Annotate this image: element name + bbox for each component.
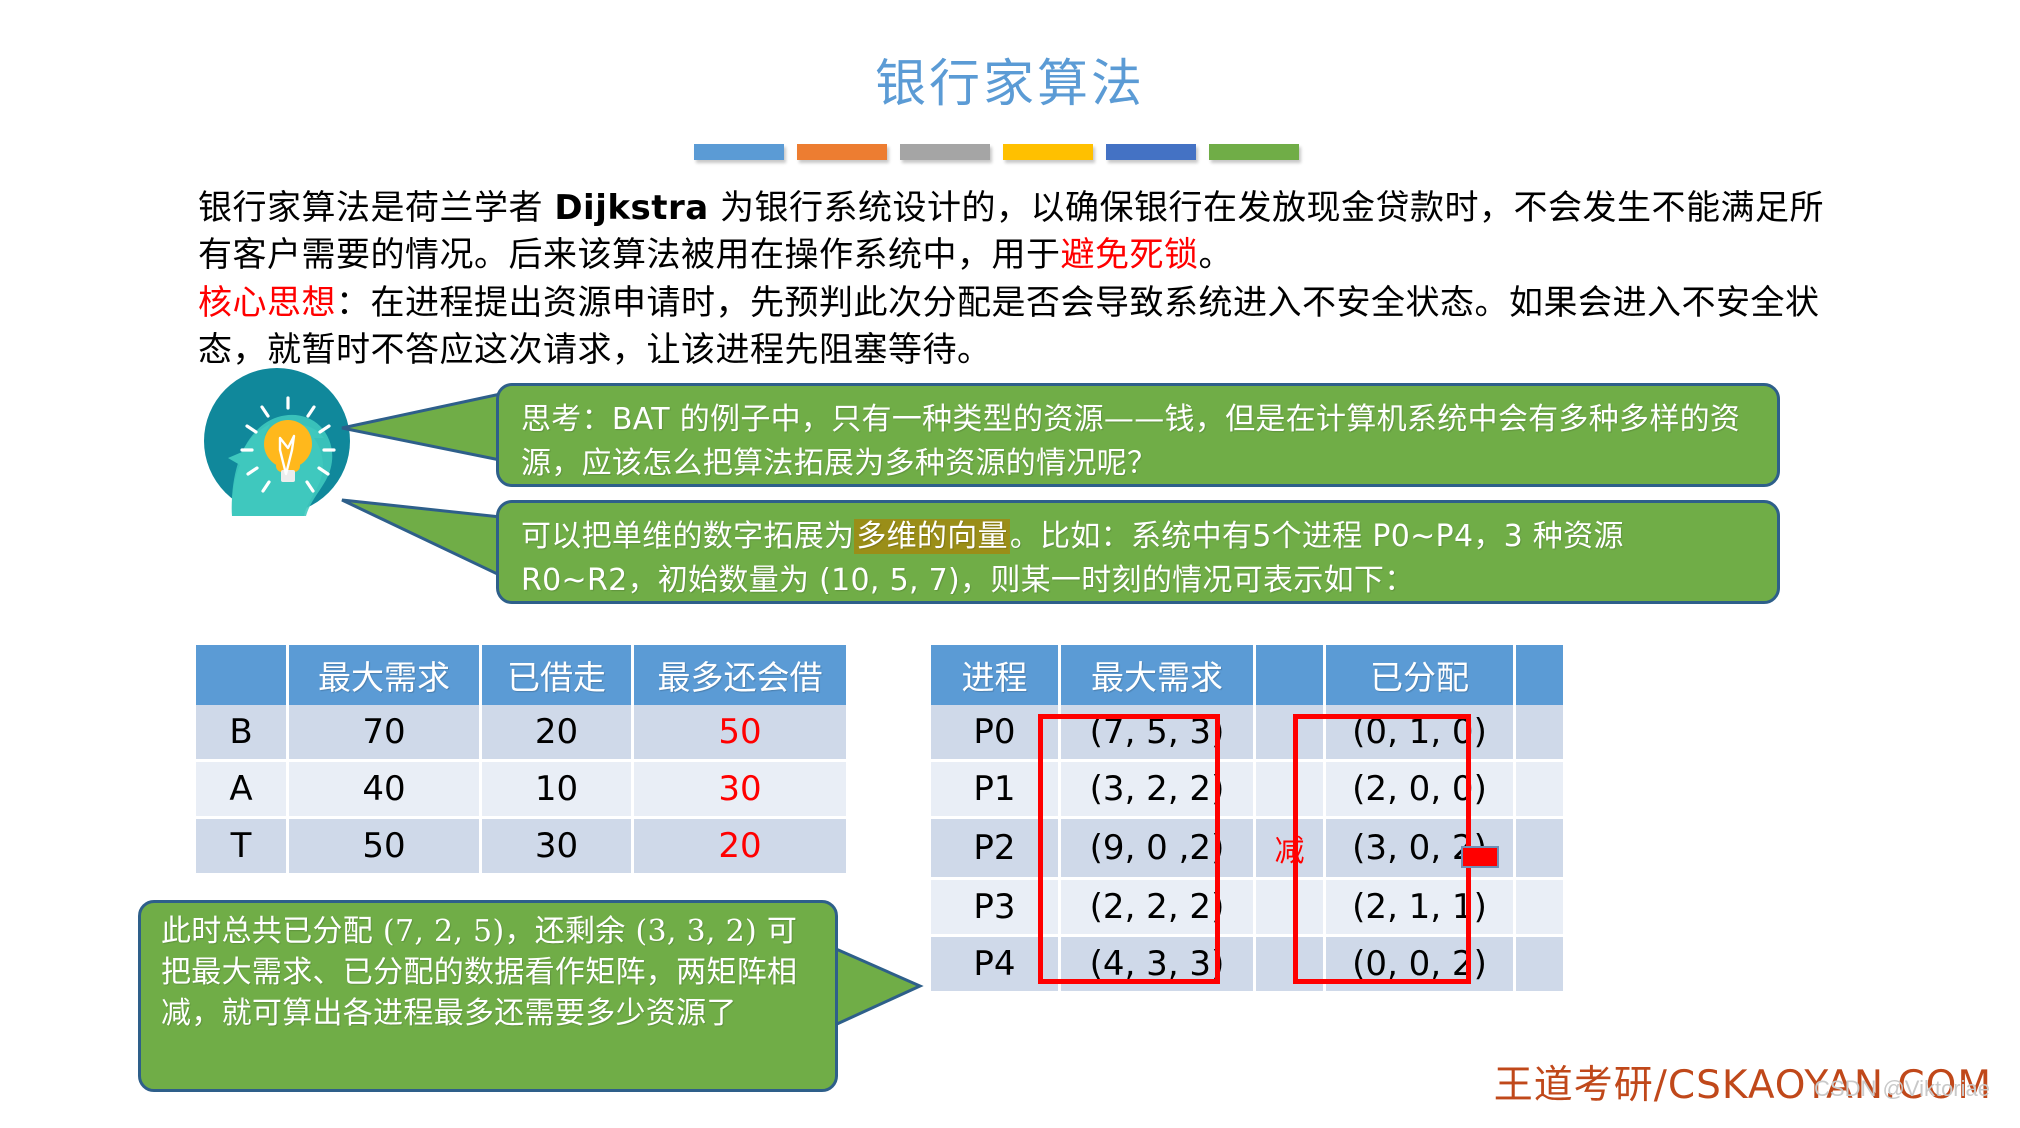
cell-operator	[1255, 761, 1325, 818]
col-header-spacer-1	[1255, 645, 1325, 705]
cell-alloc: (2, 1, 1)	[1325, 879, 1515, 936]
slide-canvas: 银行家算法 银行家算法是荷兰学者 Dijkstra 为银行系统设计的，以确保银行…	[0, 0, 2020, 1128]
callout-two-text-before: 可以把单维的数字拓展为	[521, 519, 854, 554]
cell-max: (7, 5, 3)	[1060, 705, 1255, 761]
callout-two-tail	[340, 470, 520, 620]
process-resource-table: 进程 最大需求 已分配 P0 (7, 5, 3) (0, 1, 0) P1 (3…	[928, 645, 1566, 994]
cell-max: (2, 2, 2)	[1060, 879, 1255, 936]
accent-bar-gray	[900, 144, 990, 160]
intro-text-part3: 。	[1199, 235, 1234, 275]
col-header-max-demand: 最大需求	[1060, 645, 1255, 705]
accent-bar-blue	[694, 144, 784, 160]
lightbulb-head-icon	[202, 366, 352, 516]
table-row: P1 (3, 2, 2) (2, 0, 0)	[930, 761, 1565, 818]
cell-alloc: (0, 1, 0)	[1325, 705, 1515, 761]
intro-paragraph: 银行家算法是荷兰学者 Dijkstra 为银行系统设计的，以确保银行在发放现金贷…	[198, 185, 1858, 279]
cell-max: 70	[288, 705, 481, 761]
dijkstra-name: Dijkstra	[554, 188, 708, 228]
page-title: 银行家算法	[0, 42, 2020, 116]
cell-operator	[1255, 879, 1325, 936]
callout-thinking: 思考：BAT 的例子中，只有一种类型的资源——钱，但是在计算机系统中会有多种多样…	[496, 383, 1780, 487]
cell-borrowed: 10	[481, 761, 633, 818]
cell-borrowed: 20	[481, 705, 633, 761]
table-row: P3 (2, 2, 2) (2, 1, 1)	[930, 879, 1565, 936]
col-header-spacer-2	[1515, 645, 1565, 705]
cell-borrowed: 30	[481, 818, 633, 875]
red-marker-annotation	[1461, 846, 1499, 868]
col-header-max: 最大需求	[288, 645, 481, 705]
table-row: P4 (4, 3, 3) (0, 0, 2)	[930, 936, 1565, 993]
col-header-remaining: 最多还会借	[633, 645, 848, 705]
cell-name: T	[195, 818, 288, 875]
cell-spacer	[1515, 705, 1565, 761]
table-header-row: 进程 最大需求 已分配	[930, 645, 1565, 705]
cell-operator	[1255, 936, 1325, 993]
cell-alloc: (2, 0, 0)	[1325, 761, 1515, 818]
table-row: T 50 30 20	[195, 818, 848, 875]
avoid-deadlock-emphasis: 避免死锁	[1061, 235, 1199, 275]
col-header-allocated: 已分配	[1325, 645, 1515, 705]
cell-alloc: (0, 0, 2)	[1325, 936, 1515, 993]
col-header-borrowed: 已借走	[481, 645, 633, 705]
cell-name: B	[195, 705, 288, 761]
cell-max: (9, 0 ,2)	[1060, 818, 1255, 879]
cell-remaining: 50	[633, 705, 848, 761]
cell-process: P1	[930, 761, 1060, 818]
cell-name: A	[195, 761, 288, 818]
accent-bar-green	[1209, 144, 1299, 160]
cell-spacer	[1515, 936, 1565, 993]
core-idea-paragraph: 核心思想：在进程提出资源申请时，先预判此次分配是否会导致系统进入不安全状态。如果…	[198, 280, 1858, 374]
cell-spacer	[1515, 818, 1565, 879]
core-idea-text: ：在进程提出资源申请时，先预判此次分配是否会导致系统进入不安全状态。如果会进入不…	[198, 283, 1820, 370]
accent-bar-navy	[1106, 144, 1196, 160]
col-header-name	[195, 645, 288, 705]
cell-process: P0	[930, 705, 1060, 761]
cell-process: P4	[930, 936, 1060, 993]
accent-bar-yellow	[1003, 144, 1093, 160]
cell-max: 40	[288, 761, 481, 818]
table-row: P0 (7, 5, 3) (0, 1, 0)	[930, 705, 1565, 761]
callout-matrix-explanation: 此时总共已分配 (7, 2, 5)，还剩余 (3, 3, 2) 可把最大需求、已…	[138, 900, 838, 1092]
table-row: A 40 10 30	[195, 761, 848, 818]
cell-max: (3, 2, 2)	[1060, 761, 1255, 818]
cell-operator: 减	[1255, 818, 1325, 879]
watermark-label: CSDN @Viktoriae	[1814, 1076, 1990, 1102]
cell-process: P3	[930, 879, 1060, 936]
cell-max: 50	[288, 818, 481, 875]
col-header-process: 进程	[930, 645, 1060, 705]
core-idea-label: 核心思想	[198, 283, 336, 323]
cell-spacer	[1515, 879, 1565, 936]
cell-operator	[1255, 705, 1325, 761]
cell-process: P2	[930, 818, 1060, 879]
table-header-row: 最大需求 已借走 最多还会借	[195, 645, 848, 705]
cell-remaining: 30	[633, 761, 848, 818]
cell-remaining: 20	[633, 818, 848, 875]
table-row: B 70 20 50	[195, 705, 848, 761]
cell-max: (4, 3, 3)	[1060, 936, 1255, 993]
callout-matrix-text: 此时总共已分配 (7, 2, 5)，还剩余 (3, 3, 2) 可把最大需求、已…	[161, 914, 797, 1031]
title-accent-bars	[694, 144, 1299, 160]
cell-spacer	[1515, 761, 1565, 818]
intro-text-part1: 银行家算法是荷兰学者	[198, 188, 554, 228]
callout-thinking-text: 思考：BAT 的例子中，只有一种类型的资源——钱，但是在计算机系统中会有多种多样…	[521, 402, 1740, 481]
multidimensional-vector-highlight: 多维的向量	[854, 519, 1010, 554]
callout-multidimensional: 可以把单维的数字拓展为多维的向量。比如：系统中有5个进程 P0~P4，3 种资源…	[496, 500, 1780, 604]
bat-example-table: 最大需求 已借走 最多还会借 B 70 20 50 A 40 10 30 T 5…	[193, 645, 849, 876]
accent-bar-orange	[797, 144, 887, 160]
